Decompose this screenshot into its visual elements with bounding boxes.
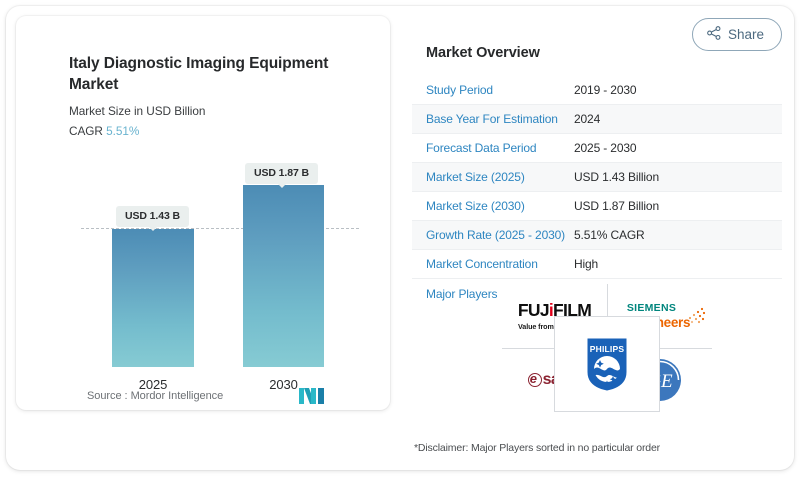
row-value: 2025 - 2030 [574,141,636,155]
row-value: 2024 [574,112,600,126]
table-row: Growth Rate (2025 - 2030) 5.51% CAGR [412,221,782,250]
philips-logo: PHILIPS [585,336,629,392]
row-key: Growth Rate (2025 - 2030) [412,228,574,242]
row-key: Market Concentration [412,257,574,271]
screenshot-root: Share Italy Diagnostic Imaging Equipment… [0,0,800,482]
row-key: Study Period [412,83,574,97]
row-value: USD 1.87 Billion [574,199,659,213]
overview-table: Study Period 2019 - 2030 Base Year For E… [412,76,782,308]
bar-2030[interactable] [243,185,324,367]
svg-text:PHILIPS: PHILIPS [590,344,625,354]
row-value: USD 1.43 Billion [574,170,659,184]
bar-label-2025: USD 1.43 B [116,206,189,227]
esaote-e-icon: e [528,373,542,387]
table-row: Market Size (2025) USD 1.43 Billion [412,163,782,192]
row-value: High [574,257,598,271]
row-value: 5.51% CAGR [574,228,645,242]
bar-label-2030: USD 1.87 B [245,163,318,184]
table-row: Base Year For Estimation 2024 [412,105,782,134]
bar-chart-plot: USD 1.43 B USD 1.87 B 2025 2030 [16,16,390,410]
chart-card: Italy Diagnostic Imaging Equipment Marke… [16,16,390,410]
major-players-logo-grid: FUJiFILM Value from Innovation SIEMENS H… [502,284,712,412]
table-row: Study Period 2019 - 2030 [412,76,782,105]
chart-source: Source : Mordor Intelligence [87,390,223,402]
table-row: Market Concentration High [412,250,782,279]
siemens-dots-icon [686,305,708,327]
row-key: Market Size (2030) [412,199,574,213]
table-row: Market Size (2030) USD 1.87 Billion [412,192,782,221]
row-key: Base Year For Estimation [412,112,574,126]
overview-title: Market Overview [426,45,782,61]
table-row: Forecast Data Period 2025 - 2030 [412,134,782,163]
row-value: 2019 - 2030 [574,83,636,97]
siemens-wordmark: SIEMENS [613,303,690,314]
logo-cell-philips: PHILIPS [554,316,660,412]
row-key: Market Size (2025) [412,170,574,184]
mordor-intelligence-logo [299,386,325,404]
disclaimer-text: *Disclaimer: Major Players sorted in no … [414,442,660,454]
row-key: Forecast Data Period [412,141,574,155]
market-overview-panel: Market Overview Study Period 2019 - 2030… [412,16,782,308]
bar-2025[interactable] [112,229,194,367]
